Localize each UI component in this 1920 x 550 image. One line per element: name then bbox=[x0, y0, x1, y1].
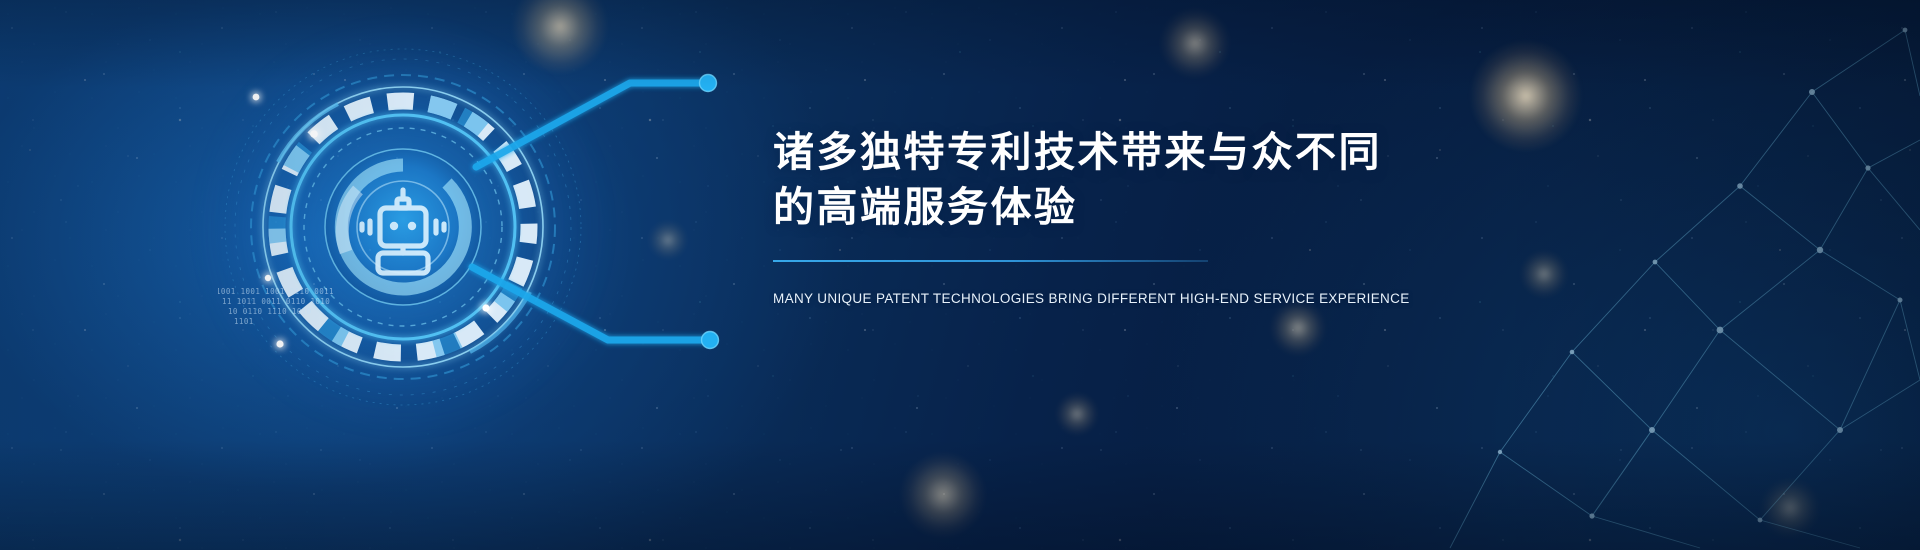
hud-halo-glow bbox=[198, 22, 608, 432]
star-glow-icon bbox=[648, 220, 688, 260]
hud-ring-graphic: 1001 1001 1001 0110 0011 11 1011 0011 01… bbox=[218, 42, 588, 412]
hud-binary-line: 1001 1001 1001 0110 0011 bbox=[218, 287, 334, 296]
hero-banner: 1001 1001 1001 0110 0011 11 1011 0011 01… bbox=[0, 0, 1920, 550]
star-glow-icon bbox=[1760, 478, 1820, 538]
connector-endpoint-ring bbox=[700, 75, 717, 92]
banner-subtitle: MANY UNIQUE PATENT TECHNOLOGIES BRING DI… bbox=[773, 291, 1493, 306]
connector-endpoint-dot bbox=[700, 75, 717, 92]
hud-node-dot bbox=[310, 130, 318, 138]
connector-endpoint-dot bbox=[702, 332, 719, 349]
star-glow-icon bbox=[1270, 300, 1326, 356]
banner-copy: 诸多独特专利技术带来与众不同 的高端服务体验 MANY UNIQUE PATEN… bbox=[773, 125, 1493, 306]
hud-node-dot bbox=[276, 340, 283, 347]
star-glow-icon bbox=[900, 452, 986, 538]
hud-node-dot bbox=[482, 304, 489, 311]
star-glow-icon bbox=[1055, 392, 1099, 436]
connector-endpoint-ring bbox=[702, 332, 719, 349]
headline-line-1: 诸多独特专利技术带来与众不同 bbox=[773, 125, 1493, 180]
hud-binary-line: 11 1011 0011 0110 1010 bbox=[222, 297, 330, 306]
star-glow-icon bbox=[512, 0, 608, 74]
robot-icon bbox=[362, 190, 444, 273]
connector-line-upper bbox=[476, 83, 708, 167]
hud-binary-line: 1101 bbox=[234, 317, 254, 326]
hud-binary-line: 10 0110 1110 1010 bbox=[228, 307, 312, 316]
star-glow-icon bbox=[1160, 8, 1230, 78]
connector-lines-graphic bbox=[440, 55, 760, 375]
headline-line-2: 的高端服务体验 bbox=[773, 180, 1493, 235]
star-glow-icon bbox=[1520, 250, 1568, 298]
headline-divider bbox=[773, 260, 1208, 262]
hud-node-dot bbox=[253, 94, 260, 101]
hud-node-dot bbox=[265, 275, 271, 281]
connector-line-lower bbox=[472, 267, 710, 340]
